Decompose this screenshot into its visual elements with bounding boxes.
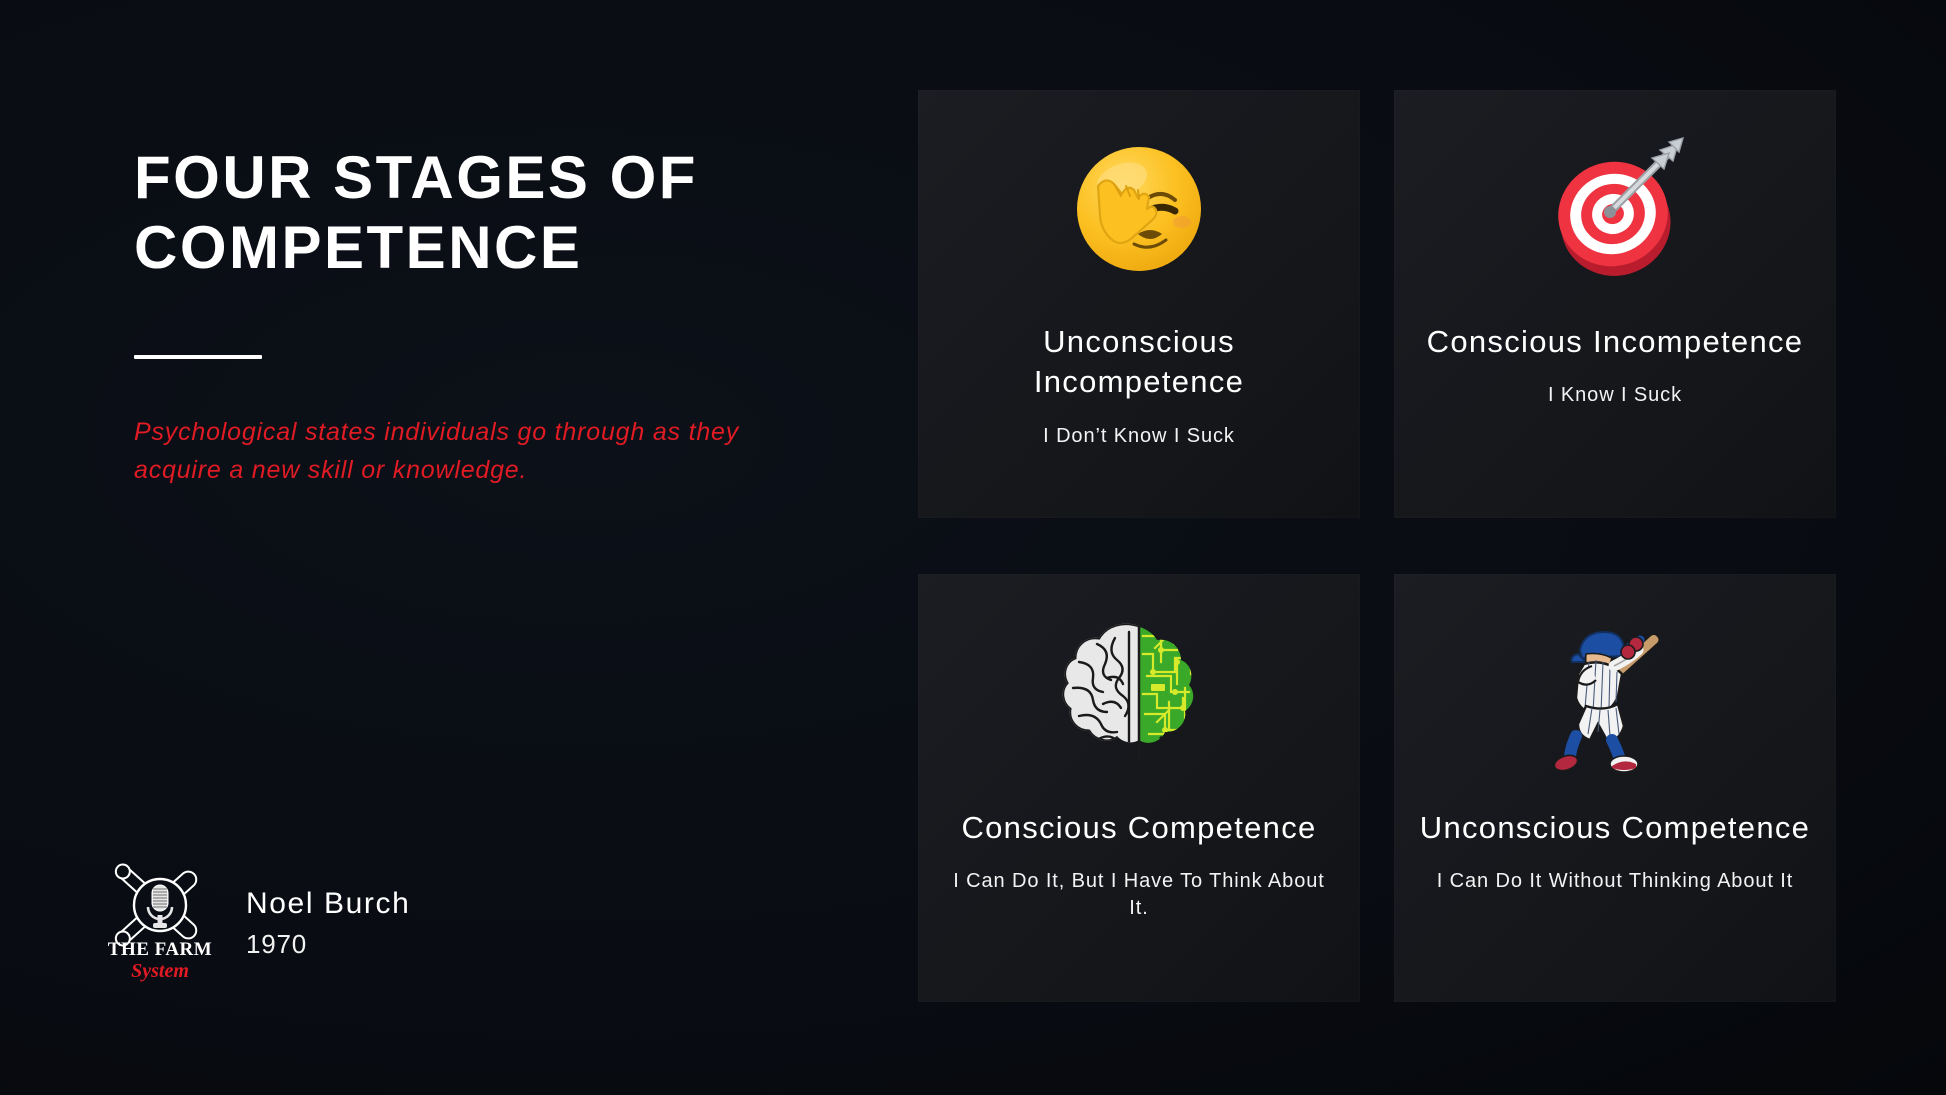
crossed-bats-microphone-icon (112, 861, 199, 949)
stages-grid: Unconscious Incompetence I Don’t Know I … (918, 90, 1836, 1002)
author-year: 1970 (246, 929, 410, 960)
byline: Noel Burch 1970 (246, 881, 410, 960)
attribution-block: THE FARM System Noel Burch 1970 (100, 853, 410, 988)
left-panel: Four Stages of Competence Psychological … (0, 0, 900, 1095)
stage-card-conscious-incompetence[interactable]: Conscious Incompetence I Know I Suck (1394, 90, 1836, 518)
page-subtitle: Psychological states individuals go thro… (134, 414, 794, 489)
stage-description: I Can Do It Without Thinking About It (1425, 868, 1805, 894)
title-divider (134, 355, 262, 359)
logo-wordmark-line1: THE FARM (108, 939, 212, 960)
stage-description: I Don’t Know I Suck (949, 423, 1329, 449)
facepalm-emoji-icon (918, 106, 1360, 312)
stage-title: Conscious Competence (936, 808, 1343, 848)
baseball-batter-icon (1394, 592, 1836, 798)
stage-title: Conscious Incompetence (1412, 322, 1819, 362)
stage-description: I Can Do It, But I Have To Think About I… (949, 868, 1329, 921)
stage-title: Unconscious Competence (1412, 808, 1819, 848)
the-farm-system-logo: THE FARM System (100, 853, 220, 988)
target-arrow-icon (1394, 106, 1836, 312)
author-name: Noel Burch (246, 887, 410, 921)
stage-card-conscious-competence[interactable]: Conscious Competence I Can Do It, But I … (918, 574, 1360, 1002)
page-title: Four Stages of Competence (134, 143, 854, 283)
brain-circuit-icon (918, 592, 1360, 798)
stage-card-unconscious-incompetence[interactable]: Unconscious Incompetence I Don’t Know I … (918, 90, 1360, 518)
stage-title: Unconscious Incompetence (936, 322, 1343, 403)
stage-description: I Know I Suck (1425, 382, 1805, 408)
stage-card-unconscious-competence[interactable]: Unconscious Competence I Can Do It Witho… (1394, 574, 1836, 1002)
slide-canvas: Four Stages of Competence Psychological … (0, 0, 1946, 1095)
logo-wordmark-line2: System (131, 960, 189, 982)
